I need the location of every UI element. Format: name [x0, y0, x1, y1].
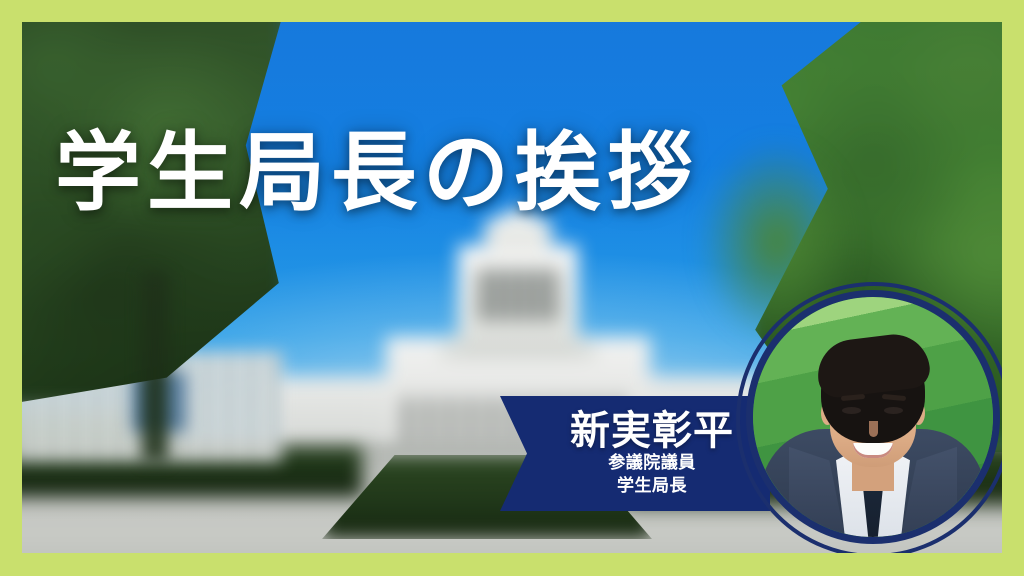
portrait-eye-right [884, 407, 903, 414]
hero-background-photo: 学生局長の挨拶 新実彰平 参議院議員 学生局長 [22, 22, 1002, 553]
portrait-eye-left [842, 407, 861, 414]
portrait-nose [869, 421, 878, 437]
page-title: 学生局長の挨拶 [55, 130, 699, 216]
diet-tower-windows [480, 269, 556, 321]
person-name: 新実彰平 [570, 410, 734, 452]
person-role-secondary: 学生局長 [617, 475, 687, 498]
slide-root: 学生局長の挨拶 新実彰平 参議院議員 学生局長 [0, 0, 1024, 576]
tree-left-trunk [142, 272, 168, 462]
portrait-ring-inner [746, 290, 1000, 544]
portrait-photo [753, 297, 993, 537]
person-role-primary: 参議院議員 [608, 452, 696, 475]
portrait-medallion [728, 274, 1002, 553]
